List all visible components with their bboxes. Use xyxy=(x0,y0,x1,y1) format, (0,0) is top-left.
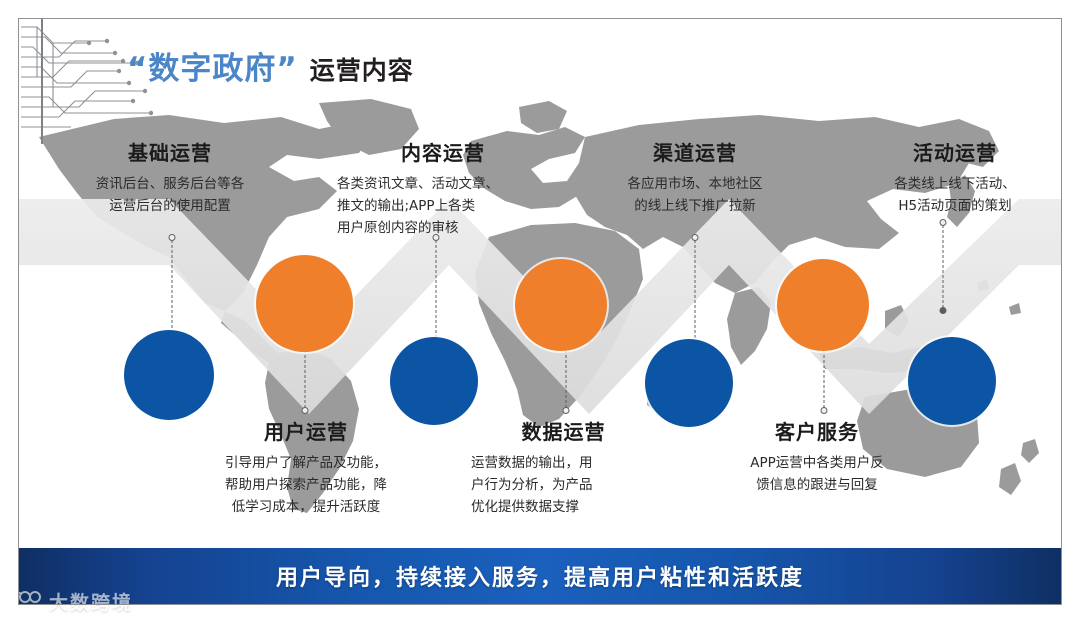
block-basic-operations: 基础运营 资讯后台、服务后台等各 运营后台的使用配置 xyxy=(59,137,281,218)
block-body: 资讯后台、服务后台等各 运营后台的使用配置 xyxy=(59,174,281,218)
connector-ring-icon xyxy=(821,407,828,414)
node-customer-service[interactable] xyxy=(645,339,733,427)
block-body-line: 户行为分析，为产品 xyxy=(471,475,656,497)
connector-ring-icon xyxy=(563,407,570,414)
block-title: 内容运营 xyxy=(337,137,549,166)
node-data-operations[interactable] xyxy=(390,337,478,425)
connector-content-operations xyxy=(431,234,441,349)
node-activity-endpoint[interactable] xyxy=(908,337,996,425)
connector-line xyxy=(695,240,696,343)
block-body: 各类资讯文章、活动文章、 推文的输出;APP上各类 用户原创内容的审核 xyxy=(337,174,549,240)
summary-banner: 用户导向，持续接入服务，提高用户粘性和活跃度 xyxy=(19,548,1061,604)
node-channel-operations[interactable] xyxy=(515,259,607,351)
block-customer-service: 客户服务 APP运营中各类用户反 馈信息的跟进与回复 xyxy=(709,416,925,497)
block-title: 活动运营 xyxy=(855,137,1055,166)
block-body: 各应用市场、本地社区 的线上线下推广拉新 xyxy=(589,174,801,218)
block-body-line: 运营后台的使用配置 xyxy=(59,196,281,218)
summary-banner-text: 用户导向，持续接入服务，提高用户粘性和活跃度 xyxy=(276,560,804,592)
block-body-line: 推文的输出;APP上各类 xyxy=(337,196,549,218)
node-content-operations[interactable] xyxy=(256,255,353,352)
block-title: 渠道运营 xyxy=(589,137,801,166)
block-body-line: 低学习成本，提升活跃度 xyxy=(195,497,417,519)
block-user-operations: 用户运营 引导用户了解产品及功能， 帮助用户探索产品功能，降 低学习成本，提升活… xyxy=(195,416,417,519)
block-body: 引导用户了解产品及功能， 帮助用户探索产品功能，降 低学习成本，提升活跃度 xyxy=(195,453,417,519)
connector-dot-icon xyxy=(940,307,947,314)
block-title: 客户服务 xyxy=(709,416,925,445)
block-body: 运营数据的输出，用 户行为分析，为产品 优化提供数据支撑 xyxy=(471,453,656,519)
block-body-line: 资讯后台、服务后台等各 xyxy=(59,174,281,196)
block-body-line: 各类线上线下活动、 xyxy=(855,174,1055,196)
slide-canvas: “数字政府”运营内容 xyxy=(19,19,1061,604)
block-title: 用户运营 xyxy=(195,416,417,445)
block-channel-operations: 渠道运营 各应用市场、本地社区 的线上线下推广拉新 xyxy=(589,137,801,218)
block-body-line: 引导用户了解产品及功能， xyxy=(195,453,417,475)
block-body-line: 的线上线下推广拉新 xyxy=(589,196,801,218)
slide-root: “数字政府”运营内容 xyxy=(0,0,1080,623)
block-body-line: APP运营中各类用户反 xyxy=(709,453,925,475)
block-body-line: 馈信息的跟进与回复 xyxy=(709,475,925,497)
block-body-line: 运营数据的输出，用 xyxy=(471,453,656,475)
connector-line xyxy=(172,240,173,343)
block-body: APP运营中各类用户反 馈信息的跟进与回复 xyxy=(709,453,925,497)
title-highlight: “数字政府” xyxy=(127,51,298,87)
title-rest: 运营内容 xyxy=(310,56,414,85)
block-campaign-operations: 活动运营 各类线上线下活动、 H5活动页面的策划 xyxy=(855,137,1055,218)
block-body-line: 各类资讯文章、活动文章、 xyxy=(337,174,549,196)
connector-channel-operations xyxy=(690,234,700,349)
block-body-line: 优化提供数据支撑 xyxy=(471,497,656,519)
block-body: 各类线上线下活动、 H5活动页面的策划 xyxy=(855,174,1055,218)
connector-line xyxy=(436,240,437,343)
block-body-line: 用户原创内容的审核 xyxy=(337,218,549,240)
block-body-line: 各应用市场、本地社区 xyxy=(589,174,801,196)
connector-line xyxy=(943,225,944,308)
block-body-line: 帮助用户探索产品功能，降 xyxy=(195,475,417,497)
block-title: 数据运营 xyxy=(471,416,656,445)
node-user-operations[interactable] xyxy=(124,330,214,420)
block-content-operations: 内容运营 各类资讯文章、活动文章、 推文的输出;APP上各类 用户原创内容的审核 xyxy=(337,137,549,240)
connector-campaign-operations xyxy=(938,219,948,314)
connector-ring-icon xyxy=(302,407,309,414)
page-title: “数字政府”运营内容 xyxy=(127,54,414,85)
node-campaign-operations[interactable] xyxy=(777,259,869,351)
block-data-operations: 数据运营 运营数据的输出，用 户行为分析，为产品 优化提供数据支撑 xyxy=(471,416,656,519)
block-body-line: H5活动页面的策划 xyxy=(855,196,1055,218)
block-title: 基础运营 xyxy=(59,137,281,166)
